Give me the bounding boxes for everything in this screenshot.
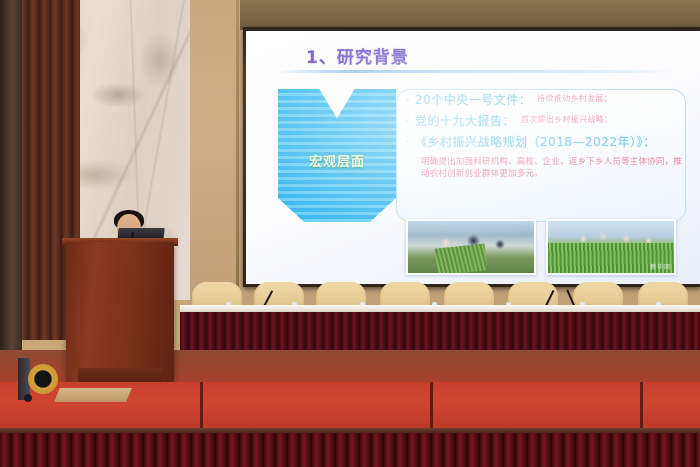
- bullet-main-text: 党的十九大报告：: [415, 114, 515, 129]
- projection-screen: 1、研究背景 宏观层面 · 20个中央一号文件： 持续推动乡村发展； · 党的十…: [246, 31, 700, 284]
- bullet-item: · 《乡村振兴战略规划（2018—2022年）》：: [406, 135, 688, 150]
- slide-title: 1、研究背景: [306, 43, 409, 68]
- stage-skirt: [0, 433, 700, 467]
- wall-upper-shadow: [240, 0, 700, 30]
- title-underline-rule: [276, 70, 676, 73]
- bullet-list: · 20个中央一号文件： 持续推动乡村发展； · 党的十九大报告： 首次提出乡村…: [406, 93, 688, 183]
- cart-wheel: [24, 394, 32, 402]
- cable-reel-cart: [18, 358, 64, 400]
- bullet-note-text: 持续推动乡村发展；: [537, 93, 612, 104]
- bullet-main-text: 20个中央一号文件：: [415, 93, 531, 108]
- bullet-item: · 20个中央一号文件： 持续推动乡村发展；: [406, 93, 688, 108]
- bullet-main-text: 《乡村振兴战略规划（2018—2022年）》：: [415, 135, 656, 150]
- conference-table-skirt: [180, 312, 700, 354]
- slide-photo-right: 新华网: [546, 219, 676, 275]
- conference-photo-scene: 1、研究背景 宏观层面 · 20个中央一号文件： 持续推动乡村发展； · 党的十…: [0, 0, 700, 467]
- stage-panel-seam: [200, 382, 203, 434]
- stage-panel-seam: [640, 382, 643, 434]
- photo-watermark: 新华网: [650, 262, 671, 271]
- bullet-marker-icon: ·: [406, 135, 415, 149]
- stage-panel-seam: [430, 382, 433, 434]
- wall-panel-seam: [236, 0, 239, 312]
- wooden-ramp-board: [54, 388, 132, 402]
- bullet-sub-note-text: 明确提出加强科研机构、高校、企业、返乡下乡人员等主体协同，推动农村创新创业群体更…: [421, 156, 683, 180]
- bullet-item: · 党的十九大报告： 首次提出乡村振兴战略；: [406, 114, 688, 129]
- slide-photo-left: [406, 219, 536, 275]
- wooden-podium: RAMADA: [66, 242, 174, 382]
- bullet-note-text: 首次提出乡村振兴战略；: [521, 114, 612, 125]
- cable-drum: [28, 364, 58, 394]
- bullet-marker-icon: ·: [406, 93, 415, 107]
- chevron-label: 宏观层面: [278, 151, 396, 170]
- bullet-marker-icon: ·: [406, 114, 415, 128]
